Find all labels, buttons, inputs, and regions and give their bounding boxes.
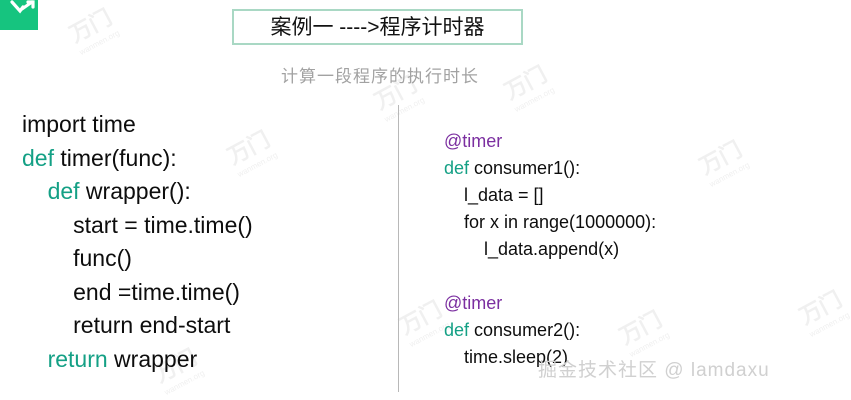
code-line: def wrapper(): xyxy=(22,175,253,209)
slide-subtitle: 计算一段程序的执行时长 xyxy=(0,62,760,87)
code-keyword: def xyxy=(444,158,469,178)
code-keyword: def xyxy=(22,145,54,171)
code-line: for x in range(1000000): xyxy=(444,209,656,236)
code-text xyxy=(22,346,48,372)
code-text: consumer2(): xyxy=(469,320,580,340)
code-block-decorator-definition: import timedef timer(func): def wrapper(… xyxy=(22,108,253,376)
code-keyword: return xyxy=(48,346,108,372)
code-text: import time xyxy=(22,111,136,137)
code-line: return end-start xyxy=(22,309,253,343)
code-text: for x in range(1000000): xyxy=(444,212,656,232)
background-watermark: 万门wanmen.org xyxy=(393,292,451,349)
code-line: import time xyxy=(22,108,253,142)
code-line: func() xyxy=(22,242,253,276)
check-arrow-icon xyxy=(0,0,38,30)
code-text xyxy=(444,266,449,286)
code-line: start = time.time() xyxy=(22,209,253,243)
code-line: return wrapper xyxy=(22,343,253,377)
background-watermark: 万门wanmen.org xyxy=(793,282,851,339)
code-text: func() xyxy=(22,245,132,271)
code-line: end =time.time() xyxy=(22,276,253,310)
code-line: def timer(func): xyxy=(22,142,253,176)
slide-title-box: 案例一 ---->程序计时器 xyxy=(232,9,523,45)
author-credit: 掘金技术社区 @ lamdaxu xyxy=(538,355,770,382)
code-decorator: @timer xyxy=(444,293,502,313)
code-line: @timer xyxy=(444,290,656,317)
code-text: l_data.append(x) xyxy=(444,239,619,259)
brand-logo-mark xyxy=(0,0,38,30)
code-keyword: def xyxy=(48,178,80,204)
code-line xyxy=(444,263,656,290)
code-line: l_data.append(x) xyxy=(444,236,656,263)
code-text: end =time.time() xyxy=(22,279,240,305)
code-text xyxy=(22,178,48,204)
code-keyword: def xyxy=(444,320,469,340)
code-text: wrapper xyxy=(108,346,197,372)
background-watermark: 万门wanmen.org xyxy=(693,132,751,189)
code-line: def consumer1(): xyxy=(444,155,656,182)
code-text: start = time.time() xyxy=(22,212,253,238)
code-text: consumer1(): xyxy=(469,158,580,178)
code-text: return end-start xyxy=(22,312,230,338)
page-title: 案例一 ---->程序计时器 xyxy=(270,17,484,38)
slide-canvas: 万门wanmen.org万门wanmen.org万门wanmen.org万门wa… xyxy=(0,0,851,400)
background-watermark: 万门wanmen.org xyxy=(63,0,121,57)
code-text: wrapper(): xyxy=(80,178,191,204)
code-text: timer(func): xyxy=(54,145,177,171)
code-line: @timer xyxy=(444,128,656,155)
code-decorator: @timer xyxy=(444,131,502,151)
code-text: l_data = [] xyxy=(444,185,544,205)
column-divider xyxy=(398,105,399,392)
code-line: l_data = [] xyxy=(444,182,656,209)
code-block-decorator-usage: @timerdef consumer1(): l_data = [] for x… xyxy=(444,128,656,371)
code-line: def consumer2(): xyxy=(444,317,656,344)
